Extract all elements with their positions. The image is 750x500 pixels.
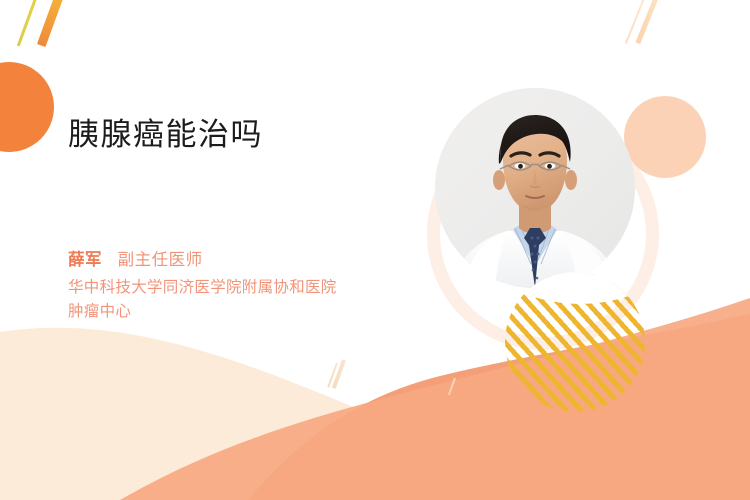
doctor-name: 薛军 bbox=[68, 251, 102, 269]
doctor-identity-line: 薛军 副主任医师 bbox=[68, 248, 488, 273]
doctor-job-title: 副主任医师 bbox=[118, 251, 203, 269]
page-title: 胰腺癌能治吗 bbox=[68, 118, 468, 152]
striped-disc-decoration bbox=[505, 272, 645, 412]
ribbon-thick-orange-icon bbox=[37, 0, 71, 47]
peach-circle-shape bbox=[624, 96, 706, 178]
doctor-credit-block: 薛军 副主任医师 华中科技大学同济医学院附属协和医院 肿瘤中心 bbox=[68, 248, 488, 324]
orange-circle-shape bbox=[0, 62, 54, 152]
headline-block: 胰腺癌能治吗 bbox=[68, 118, 468, 152]
doctor-affiliation: 华中科技大学同济医学院附属协和医院 肿瘤中心 bbox=[68, 276, 488, 324]
affiliation-line-1: 华中科技大学同济医学院附属协和医院 bbox=[68, 276, 488, 300]
video-cover-canvas: 胰腺癌能治吗 薛军 副主任医师 华中科技大学同济医学院附属协和医院 肿瘤中心 bbox=[0, 0, 750, 500]
affiliation-line-2: 肿瘤中心 bbox=[68, 300, 488, 324]
